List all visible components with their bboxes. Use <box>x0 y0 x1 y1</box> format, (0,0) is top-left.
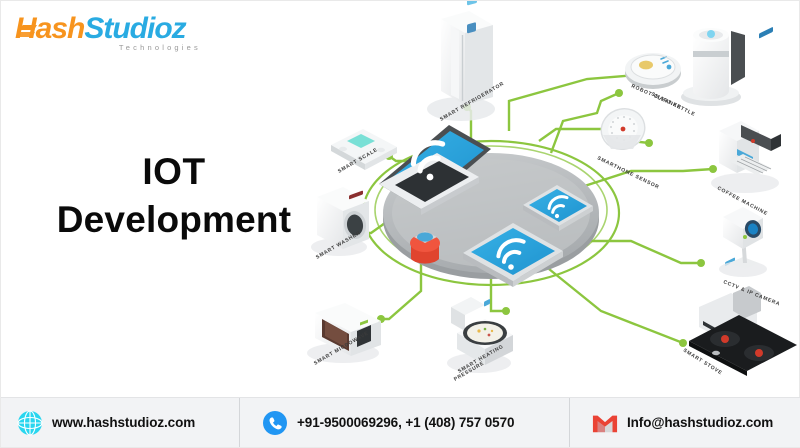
device-smart-microwave: SMART MICROWAVE <box>307 303 381 367</box>
gmail-icon <box>592 410 618 436</box>
iot-illustration: SMART REFRIGERATOR SMART SCALE <box>301 1 800 399</box>
phone-icon <box>262 410 288 436</box>
brand-logo[interactable]: HashStudioz Technologies <box>15 13 205 57</box>
website-text: www.hashstudioz.com <box>52 415 195 430</box>
poster-canvas: HashStudioz Technologies IOT Development <box>0 0 800 448</box>
footer-website[interactable]: www.hashstudioz.com <box>1 398 239 447</box>
page-title: IOT Development <box>19 149 329 245</box>
device-smart-scale: SMART SCALE <box>331 129 397 175</box>
contact-footer: www.hashstudioz.com +91-9500069296, +1 (… <box>1 397 800 447</box>
device-cctv-ip-camera: CCTV & IP CAMERA <box>719 207 781 308</box>
device-smart-washer: SMART WASHER <box>311 187 369 261</box>
logo-mark-icon <box>17 21 47 51</box>
headline-line-2: Development <box>19 195 329 245</box>
email-text: Info@hashstudioz.com <box>627 415 773 430</box>
globe-icon <box>17 410 43 436</box>
footer-phone[interactable]: +91-9500069296, +1 (408) 757 0570 <box>239 398 569 447</box>
headline-line-1: IOT <box>19 149 329 195</box>
logo-studioz-text: Studioz <box>84 12 185 45</box>
label-smarthome-sensor: SMARTHOME SENSOR <box>596 155 660 190</box>
footer-email[interactable]: Info@hashstudioz.com <box>569 398 800 447</box>
device-robot-cleaner: ROBOT CLEANER <box>625 53 682 111</box>
phone-text: +91-9500069296, +1 (408) 757 0570 <box>297 415 514 430</box>
device-smart-refrigerator: SMART REFRIGERATOR <box>427 1 505 123</box>
